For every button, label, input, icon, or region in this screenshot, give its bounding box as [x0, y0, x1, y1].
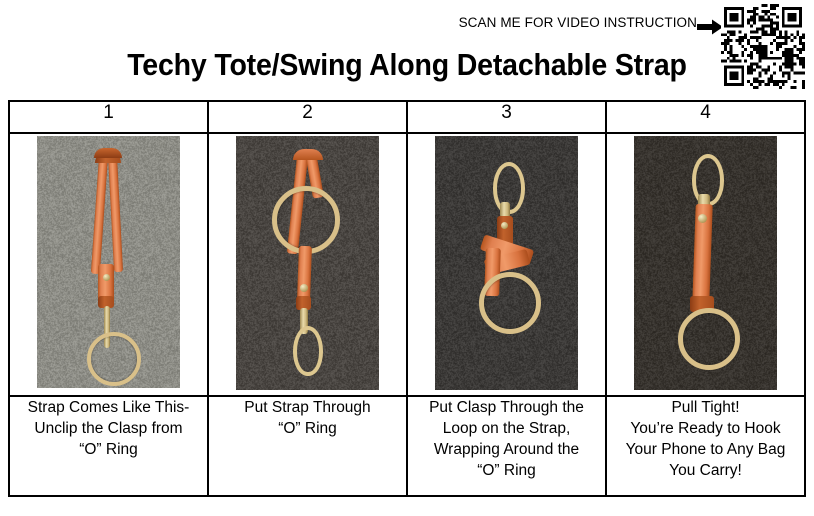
caption-line: “O” Ring	[408, 460, 605, 481]
step-photo-row	[9, 133, 805, 396]
caption-line: You’re Ready to Hook	[607, 418, 804, 439]
step-number-cell-4: 4	[606, 101, 805, 133]
step-number-cell-3: 3	[407, 101, 606, 133]
caption-line: Put Strap Through	[209, 397, 406, 418]
instruction-steps-table: 1 2 3 4 Strap Comes Like This- Unclip th…	[8, 100, 806, 497]
photo-step-4	[634, 136, 777, 390]
right-arrow-icon	[697, 19, 723, 35]
step-number-cell-1: 1	[9, 101, 208, 133]
caption-line: “O” Ring	[209, 418, 406, 439]
caption-line: Loop on the Strap,	[408, 418, 605, 439]
step-caption-cell-4: Pull Tight! You’re Ready to Hook Your Ph…	[606, 396, 805, 496]
caption-line: You Carry!	[607, 460, 804, 481]
caption-line: “O” Ring	[10, 439, 207, 460]
caption-line: Put Clasp Through the	[408, 397, 605, 418]
step-photo-cell-3	[407, 133, 606, 396]
caption-line: Pull Tight!	[607, 397, 804, 418]
step-caption-row: Strap Comes Like This- Unclip the Clasp …	[9, 396, 805, 496]
step-number-cell-2: 2	[208, 101, 407, 133]
step-number-row: 1 2 3 4	[9, 101, 805, 133]
photo-step-3	[435, 136, 578, 390]
caption-line: Your Phone to Any Bag	[607, 439, 804, 460]
photo-step-1	[37, 136, 180, 388]
scan-instruction-label: SCAN ME FOR VIDEO INSTRUCTION	[459, 15, 697, 30]
step-photo-cell-4	[606, 133, 805, 396]
step-caption-cell-3: Put Clasp Through the Loop on the Strap,…	[407, 396, 606, 496]
photo-step-2	[236, 136, 379, 390]
page-title: Techy Tote/Swing Along Detachable Strap	[33, 47, 782, 83]
step-caption-cell-1: Strap Comes Like This- Unclip the Clasp …	[9, 396, 208, 496]
step-photo-cell-2	[208, 133, 407, 396]
caption-line: Unclip the Clasp from	[10, 418, 207, 439]
step-caption-cell-2: Put Strap Through “O” Ring	[208, 396, 407, 496]
caption-line: Strap Comes Like This-	[10, 397, 207, 418]
step-photo-cell-1	[9, 133, 208, 396]
caption-line: Wrapping Around the	[408, 439, 605, 460]
